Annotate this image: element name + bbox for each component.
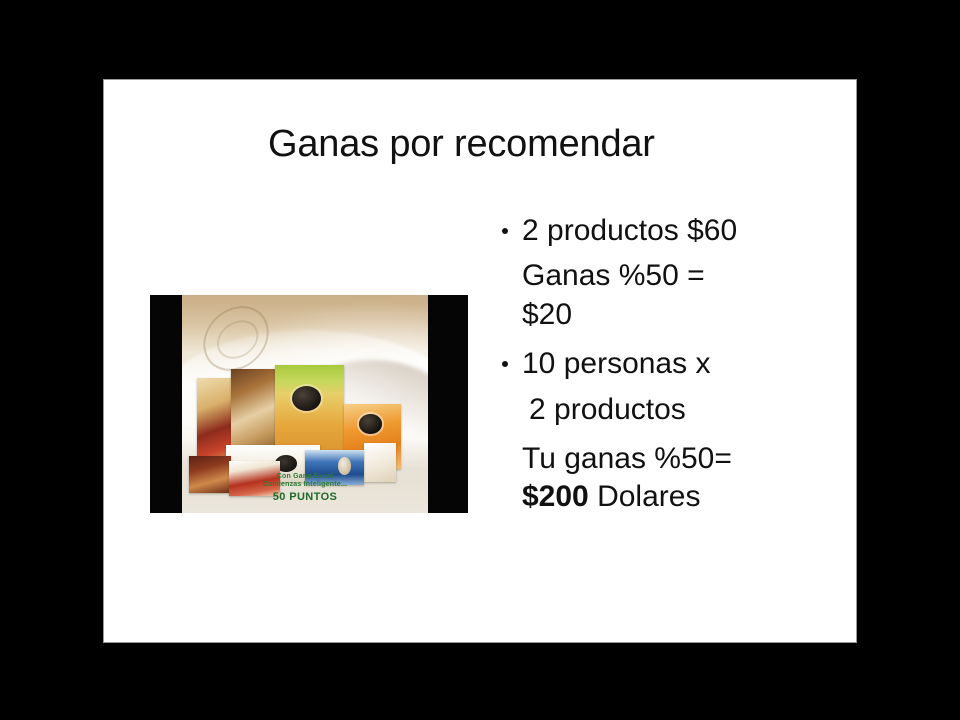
- bullet-list: 2 productos $60 Ganas %50 = $20 10 perso…: [496, 212, 826, 517]
- product-photo-inner: Con Gano Excel Comienzas Inteligente... …: [182, 295, 428, 513]
- photo-caption-line-2: Comienzas Inteligente...: [182, 481, 428, 490]
- list-item: Tu ganas %50=: [496, 440, 826, 478]
- list-item: $200 Dolares: [496, 478, 826, 516]
- bullet-dot-icon: [502, 228, 508, 234]
- slide-canvas: Ganas por recomendar 2 productos $60 Gan…: [104, 80, 856, 642]
- product-photo: Con Gano Excel Comienzas Inteligente... …: [150, 295, 468, 513]
- pillarbox-right: [428, 295, 468, 513]
- list-item-label: 2 productos $60: [522, 214, 737, 247]
- list-item: $20: [496, 296, 826, 334]
- list-item-label: $20: [522, 298, 572, 331]
- photo-caption: Con Gano Excel Comienzas Inteligente... …: [182, 473, 428, 504]
- spacer: [496, 384, 826, 391]
- spacer: [496, 334, 826, 345]
- list-item: 10 personas x: [496, 345, 826, 383]
- slide-stage: Ganas por recomendar 2 productos $60 Gan…: [0, 0, 960, 720]
- photo-caption-points: 50 PUNTOS: [182, 491, 428, 504]
- list-item-label: Ganas %50 =: [522, 259, 705, 292]
- photo-caption-line-1: Con Gano Excel: [182, 473, 428, 482]
- list-item: 2 productos $60: [496, 212, 826, 250]
- page-title: Ganas por recomendar: [268, 123, 828, 166]
- spacer: [496, 429, 826, 440]
- pillarbox-left: [150, 295, 182, 513]
- list-item-amount: $200: [522, 480, 589, 513]
- list-item-label: Tu ganas %50=: [522, 442, 732, 475]
- list-item: 2 productos: [496, 391, 826, 429]
- list-item-label: 2 productos: [529, 393, 686, 426]
- bullet-dot-icon: [502, 361, 508, 367]
- product-box: [231, 369, 278, 456]
- list-item-label: 10 personas x: [522, 347, 710, 380]
- list-item-label: Dolares: [589, 480, 701, 513]
- list-item: Ganas %50 =: [496, 257, 826, 295]
- spacer: [496, 250, 826, 257]
